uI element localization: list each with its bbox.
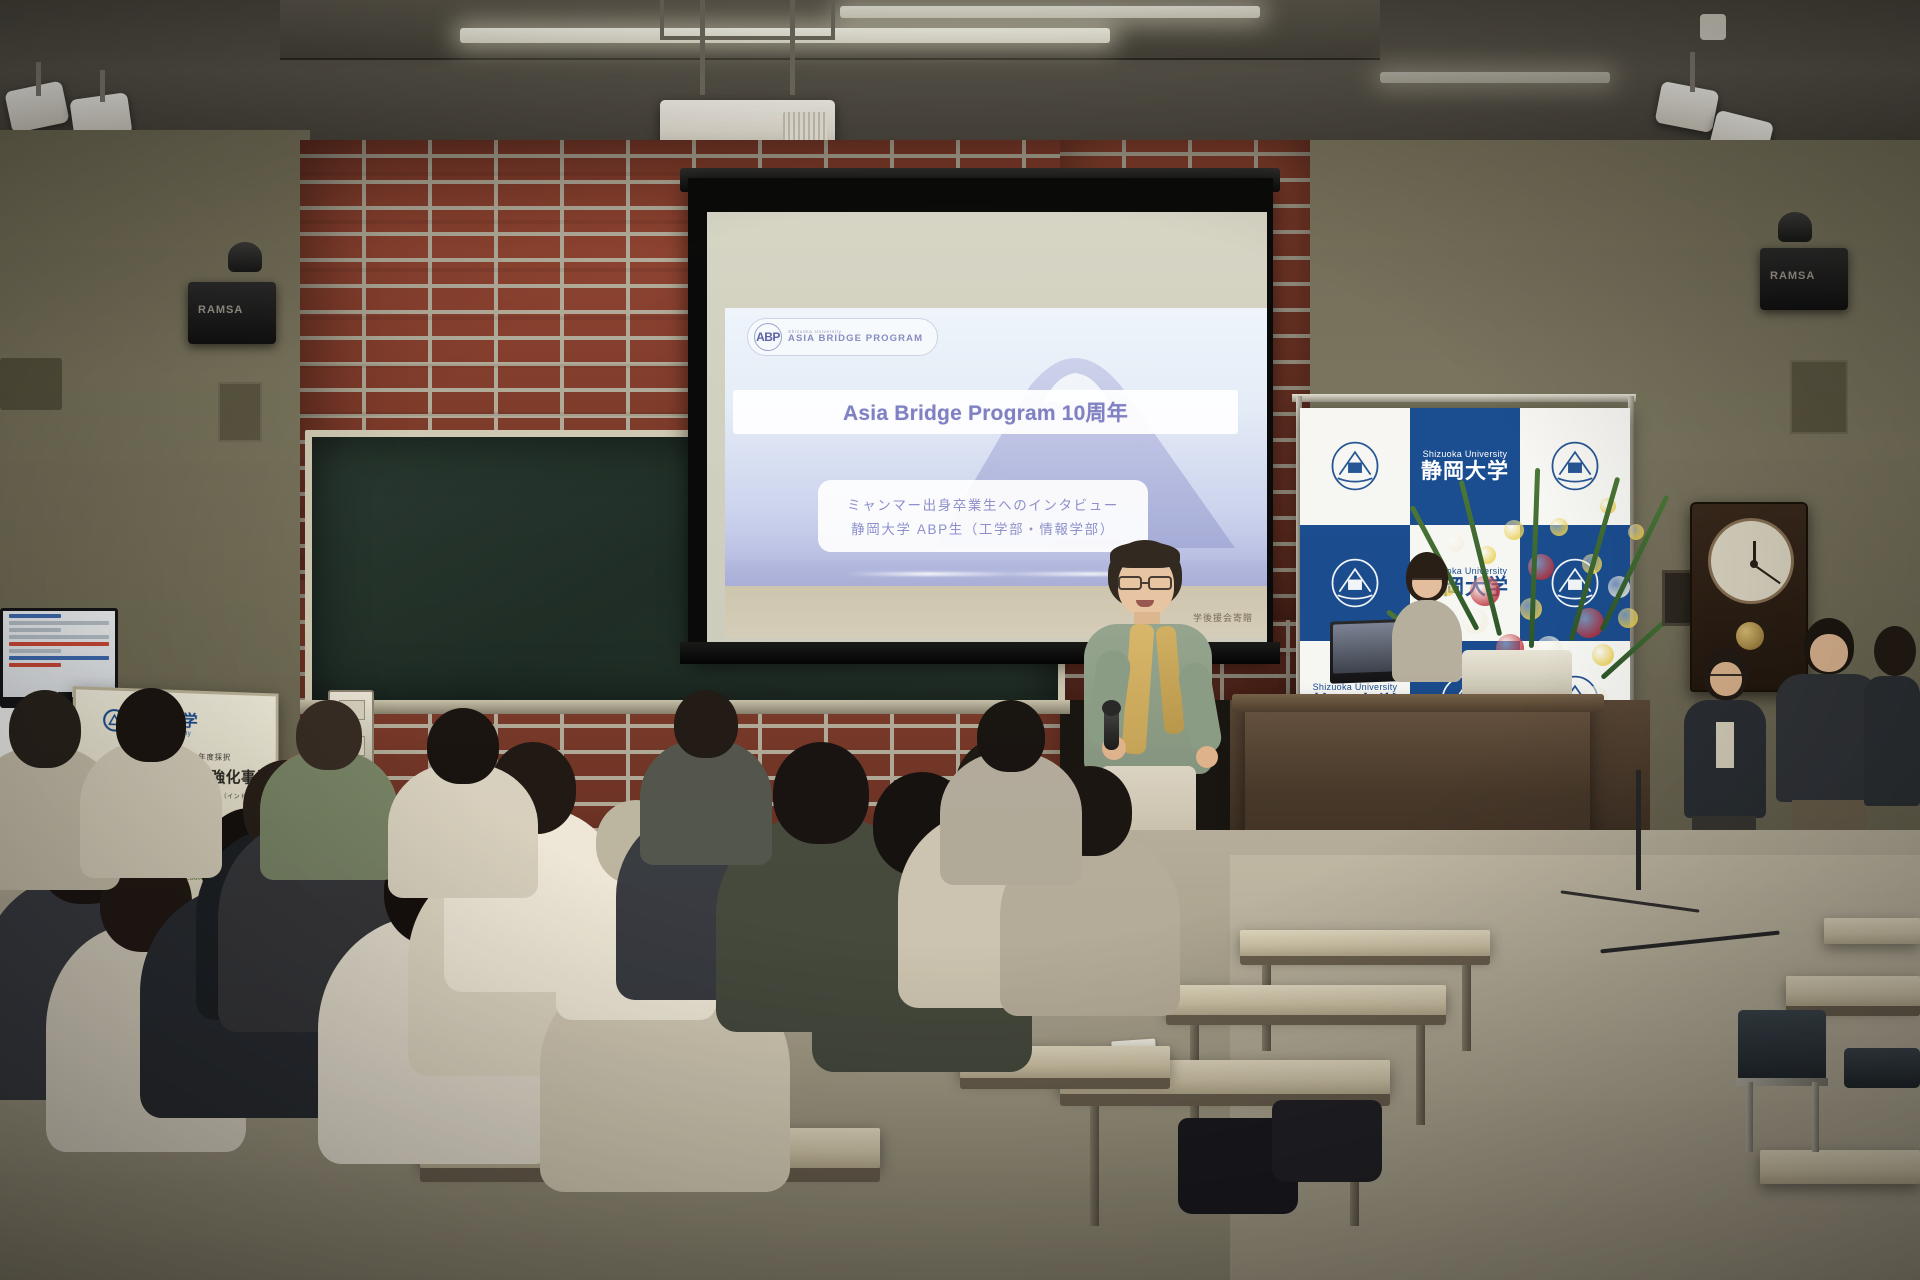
- slide-title: Asia Bridge Program 10周年: [843, 397, 1128, 427]
- wall-panel: [1790, 360, 1848, 434]
- slide-subtitle-line-1: ミャンマー出身卒業生へのインタビュー: [847, 494, 1119, 514]
- presenter-fringe: [1110, 542, 1180, 568]
- light-stem: [1690, 52, 1695, 92]
- rig-rod: [790, 0, 795, 95]
- chair[interactable]: [1844, 1048, 1920, 1088]
- speaker-brand-label: RAMSA: [1770, 270, 1815, 282]
- operator-person: [1392, 552, 1462, 682]
- audience-member: [80, 688, 222, 878]
- abp-logo-title: ASIA BRIDGE PROGRAM: [788, 334, 923, 344]
- audience-head: [427, 708, 499, 784]
- lecture-hall-photo: RAMSA RAMSA: [0, 0, 1920, 1280]
- banner-cell-white: [1300, 408, 1410, 525]
- clock-minute-hand: [1753, 564, 1780, 584]
- desk: [1760, 1150, 1920, 1184]
- abp-logo: ABP Shizuoka University ASIA BRIDGE PROG…: [747, 318, 938, 356]
- operator-body: [1392, 600, 1462, 682]
- desk-leg: [1416, 1025, 1425, 1125]
- banner-logo-en: Shizuoka University: [1311, 683, 1399, 693]
- desk: [1240, 930, 1490, 956]
- light-base: [1700, 14, 1726, 40]
- chair-leg: [1812, 1082, 1819, 1152]
- audience-head: [674, 690, 738, 758]
- flower: [1446, 534, 1464, 552]
- desk-edge: [1240, 956, 1490, 965]
- camera-icon: [1778, 212, 1812, 242]
- monitor-line: [9, 656, 109, 660]
- person-hair: [1874, 626, 1916, 676]
- glasses-bridge: [1142, 582, 1148, 584]
- fluorescent-tube: [840, 6, 1260, 18]
- monitor-line: [9, 649, 61, 653]
- lanyard: [1716, 722, 1734, 768]
- monitor-line: [9, 663, 61, 667]
- microphone-head: [1102, 700, 1121, 716]
- slide-subtitle-line-2: 静岡大学 ABP生（工学部・情報学部）: [851, 518, 1115, 538]
- glasses-icon: [1710, 674, 1742, 678]
- desk-leg: [1090, 1106, 1099, 1226]
- flower: [1618, 608, 1638, 628]
- banner-top-rail: [1292, 394, 1636, 402]
- light-stem: [36, 62, 41, 96]
- light-stem: [100, 70, 105, 102]
- ceiling-rig: [660, 0, 835, 40]
- clock-pendulum: [1736, 622, 1764, 650]
- glasses-icon: [1118, 576, 1142, 590]
- person-torso: [1864, 676, 1920, 806]
- speaker-brand-label: RAMSA: [198, 304, 243, 316]
- clock-center: [1750, 560, 1758, 568]
- podium-top: [1232, 694, 1604, 712]
- monitor-line: [9, 635, 109, 639]
- rig-rod: [700, 0, 705, 95]
- glasses-icon: [1148, 576, 1172, 590]
- wall-fixture: [0, 358, 62, 410]
- flower: [1628, 524, 1644, 540]
- audience-member: [940, 700, 1082, 885]
- audience-member: [260, 700, 398, 880]
- operator-hair-top: [1410, 560, 1446, 578]
- abp-mark: ABP: [754, 323, 782, 351]
- monitor-line: [9, 614, 61, 618]
- desk-edge: [960, 1078, 1170, 1089]
- audience-head: [9, 690, 81, 768]
- desk: [1824, 918, 1920, 944]
- person-face: [1710, 662, 1742, 696]
- flower: [1550, 518, 1568, 536]
- desk: [1786, 976, 1920, 1006]
- bag: [1272, 1100, 1382, 1182]
- pa-speaker: RAMSA: [1760, 248, 1848, 310]
- flower: [1504, 520, 1524, 540]
- monitor-screen: [3, 611, 115, 697]
- desk-leg: [1462, 965, 1471, 1051]
- desk-edge: [1166, 1015, 1446, 1025]
- slide-title-band: Asia Bridge Program 10周年: [733, 390, 1238, 434]
- monitor-line: [9, 621, 109, 625]
- audience-member: [388, 708, 538, 898]
- projector-vent: [783, 112, 827, 142]
- chair[interactable]: [1738, 1010, 1826, 1082]
- person-face: [1810, 634, 1848, 672]
- presenter-hand: [1196, 746, 1218, 768]
- audience-member: [640, 690, 772, 865]
- clock-face: [1708, 518, 1794, 604]
- fluorescent-tube: [1380, 72, 1610, 83]
- audience-head: [116, 688, 186, 762]
- pa-speaker: RAMSA: [188, 282, 276, 344]
- chair-leg: [1746, 1082, 1753, 1152]
- desk: [1166, 985, 1446, 1015]
- flower: [1592, 644, 1614, 666]
- camera-icon: [228, 242, 262, 272]
- audience-head: [977, 700, 1045, 772]
- audience-head: [296, 700, 362, 770]
- monitor-line: [9, 628, 61, 632]
- floor-cable: [1636, 770, 1641, 890]
- wall-panel: [218, 382, 262, 442]
- monitor-line: [9, 642, 109, 646]
- glasses-icon: [1412, 578, 1442, 583]
